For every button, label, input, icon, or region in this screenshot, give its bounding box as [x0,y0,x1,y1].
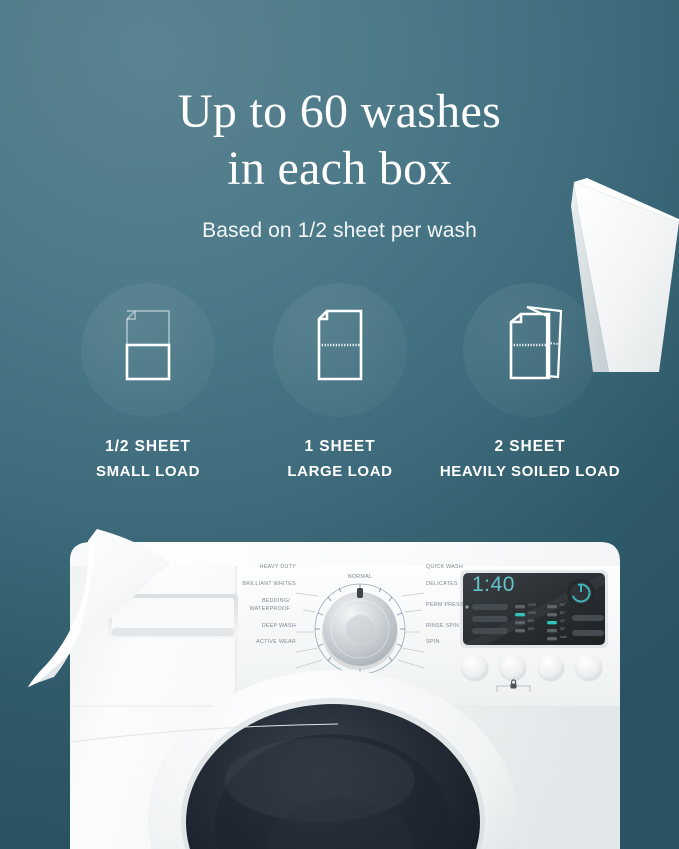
feature-item-two-sheets: 2 SHEET HEAVILY SOILED LOAD [435,283,625,482]
feature-item-half-sheet: 1/2 SHEET SMALL LOAD [53,283,243,482]
feature-list: 1/2 SHEET SMALL LOAD 1 SHEET LARGE LOAD [0,283,679,523]
feature-item-one-sheet: 1 SHEET LARGE LOAD [245,283,435,482]
feature-circle [273,283,407,417]
feature-sublabel: SMALL LOAD [53,462,243,482]
feature-sublabel: HEAVILY SOILED LOAD [435,462,625,482]
half-sheet-icon [81,283,215,417]
feature-sublabel: LARGE LOAD [245,462,435,482]
feature-circle [463,283,597,417]
feature-circle [81,283,215,417]
promo-image: Up to 60 washes in each box Based on 1/2… [0,0,679,849]
subtitle: Based on 1/2 sheet per wash [0,219,679,243]
one-sheet-icon [273,283,407,417]
feature-label: 1 SHEET [245,437,435,457]
feature-label: 2 SHEET [435,437,625,457]
feature-label: 1/2 SHEET [53,437,243,457]
floating-sheet-left [20,527,200,712]
headline-line-2: in each box [0,140,679,197]
two-sheets-icon [463,283,597,417]
headline-line-1: Up to 60 washes [178,85,501,138]
headline: Up to 60 washes in each box [0,83,679,197]
